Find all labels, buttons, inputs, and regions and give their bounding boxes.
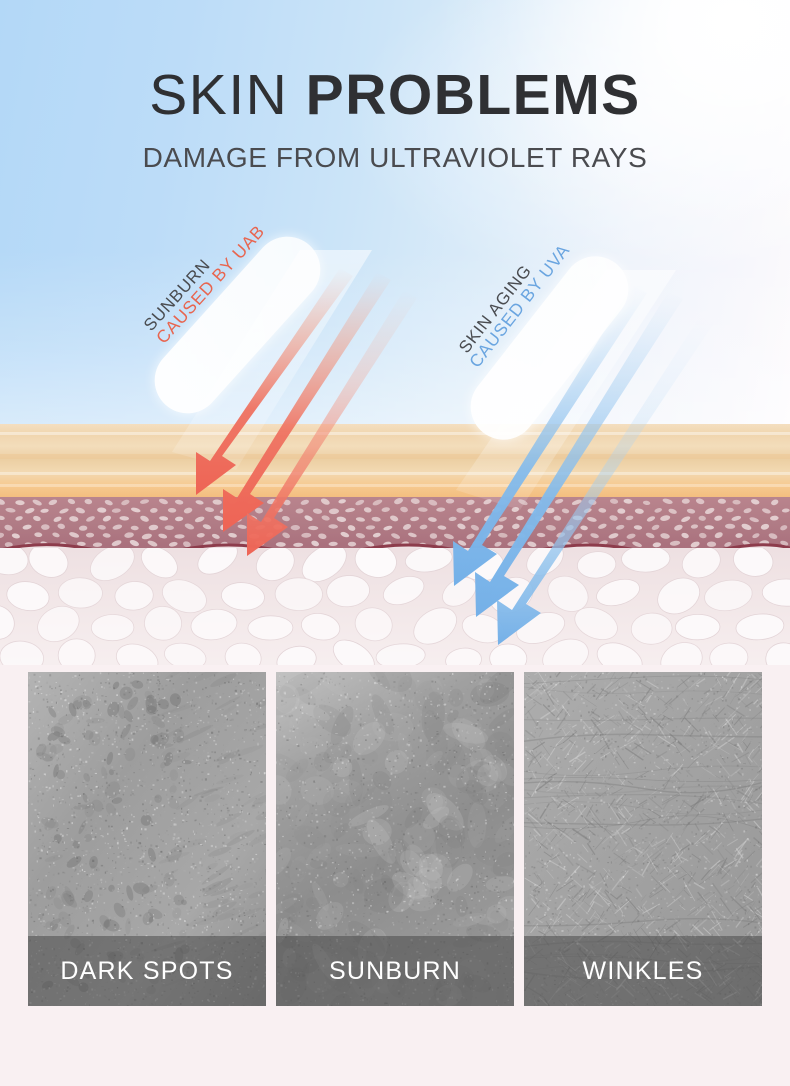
card-dark-spots[interactable]: DARK SPOTS bbox=[28, 672, 266, 1006]
title-light-part: SKIN bbox=[149, 63, 288, 127]
infographic-poster: SKIN PROBLEMS DAMAGE FROM ULTRAVIOLET RA… bbox=[0, 0, 790, 1086]
page-title: SKIN PROBLEMS bbox=[0, 66, 790, 126]
card-caption-bar: DARK SPOTS bbox=[28, 936, 266, 1006]
card-caption-bar: SUNBURN bbox=[276, 936, 514, 1006]
symptom-cards-panel: DARK SPOTS bbox=[0, 665, 790, 1086]
card-caption-text: SUNBURN bbox=[329, 957, 461, 986]
card-caption-text: WINKLES bbox=[583, 957, 704, 986]
page-subtitle: DAMAGE FROM ULTRAVIOLET RAYS bbox=[0, 142, 790, 174]
card-caption-text: DARK SPOTS bbox=[60, 957, 233, 986]
symptom-cards-row: DARK SPOTS bbox=[28, 672, 762, 1006]
card-caption-bar: WINKLES bbox=[524, 936, 762, 1006]
title-bold-part: PROBLEMS bbox=[306, 63, 641, 127]
card-sunburn[interactable]: SUNBURN bbox=[276, 672, 514, 1006]
title-block: SKIN PROBLEMS DAMAGE FROM ULTRAVIOLET RA… bbox=[0, 66, 790, 174]
card-winkles[interactable]: WINKLES bbox=[524, 672, 762, 1006]
